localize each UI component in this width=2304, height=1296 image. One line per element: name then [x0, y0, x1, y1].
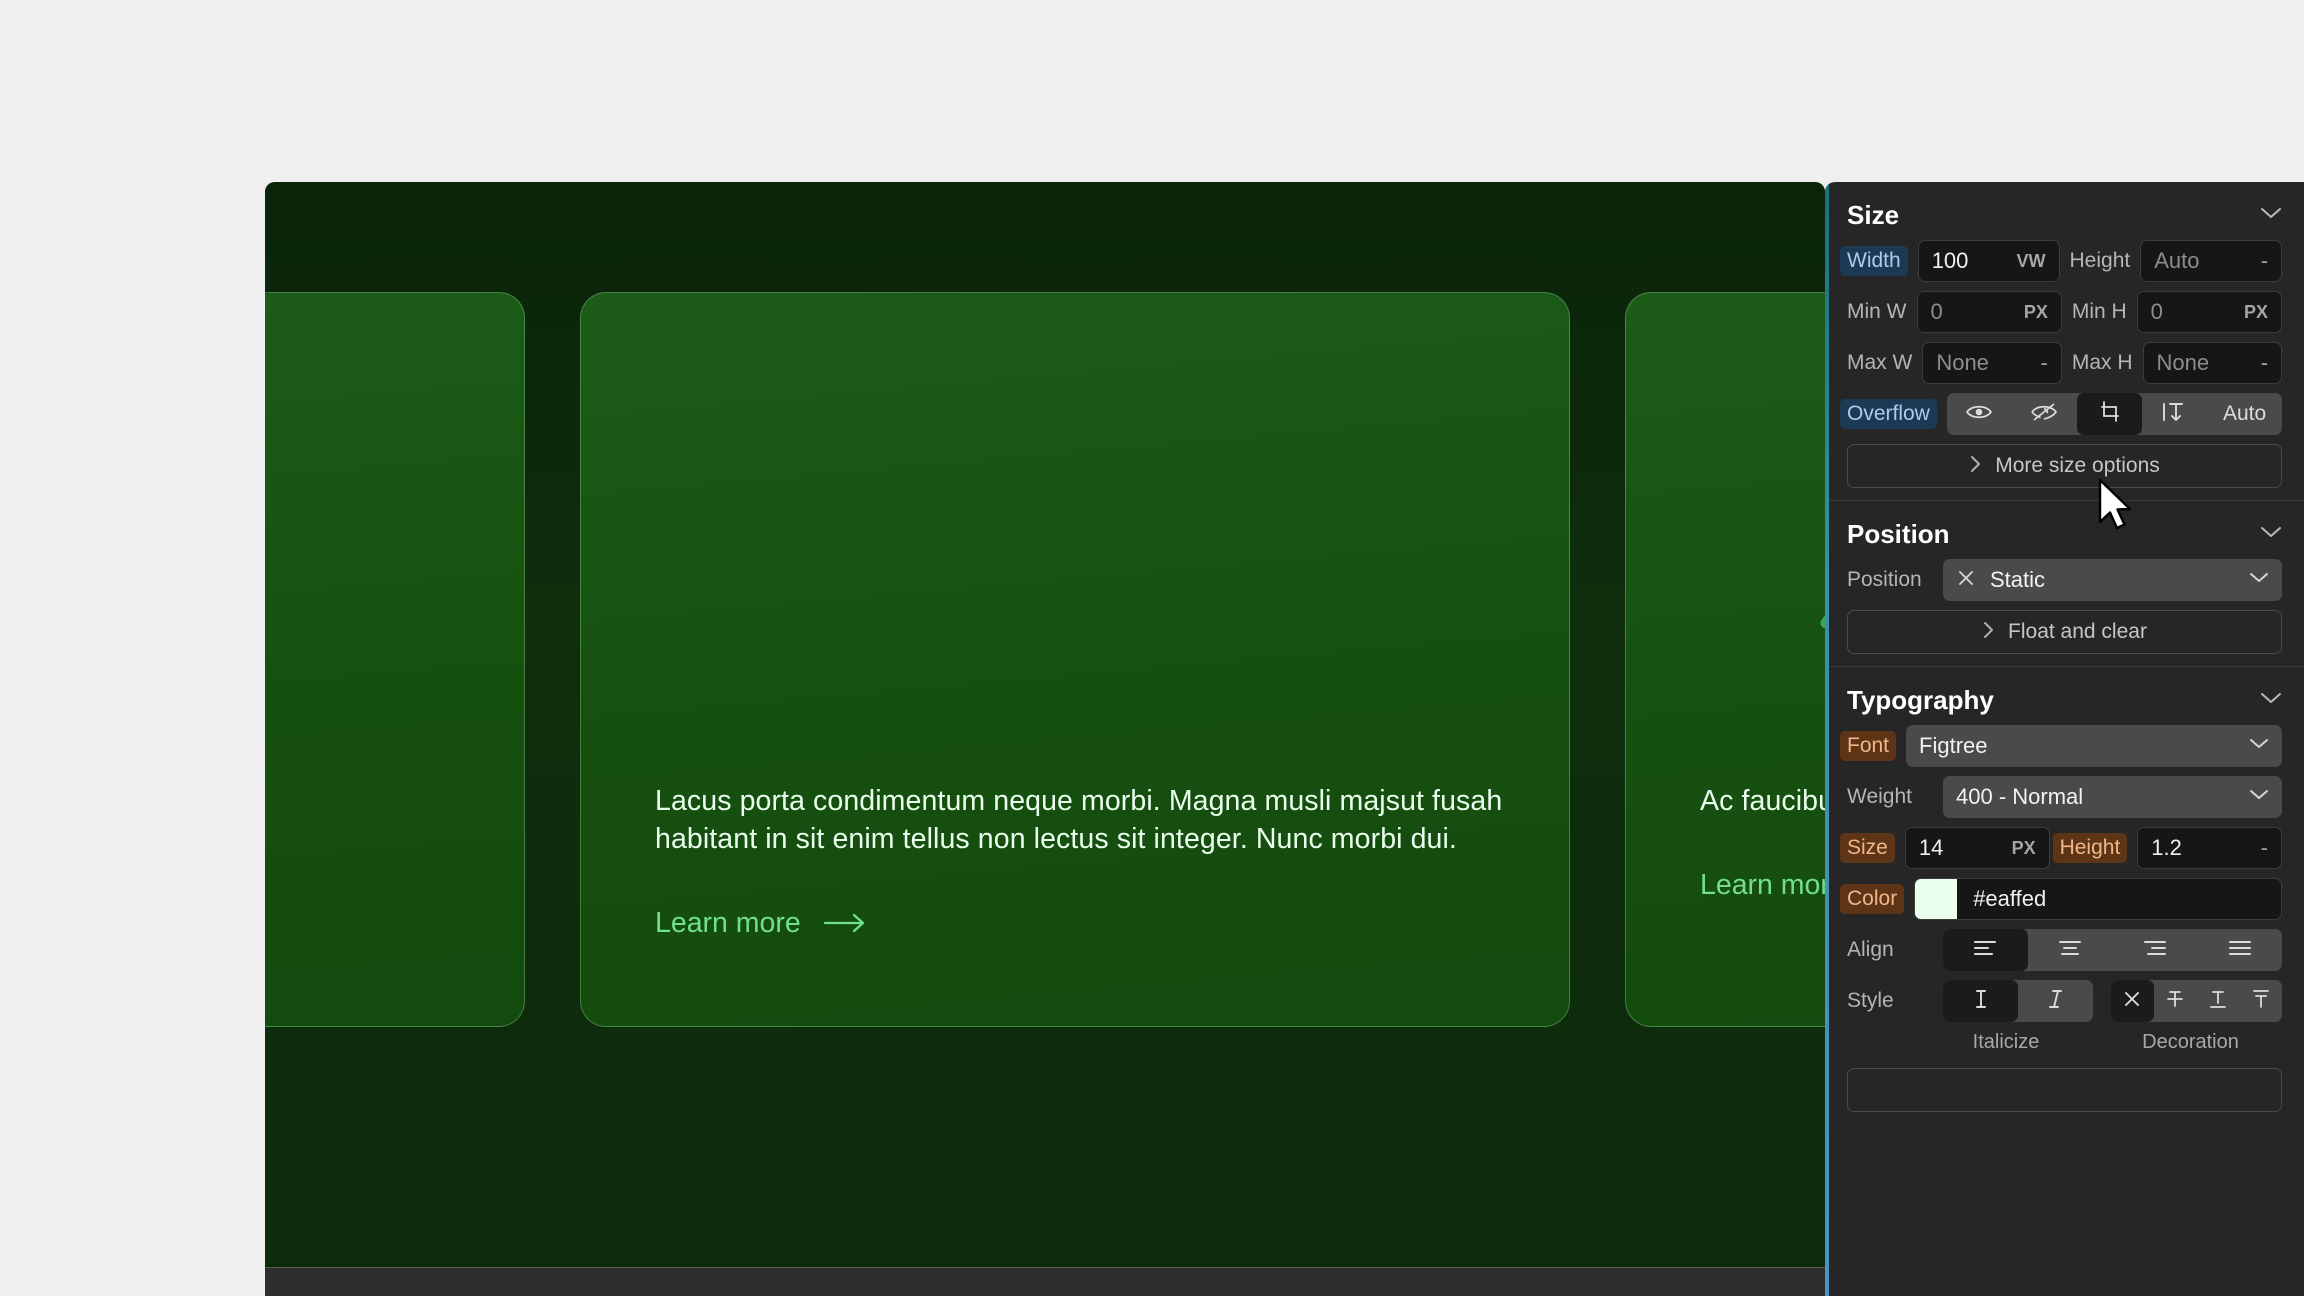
learn-more-label: Learn more: [1700, 869, 1825, 902]
list-item[interactable]: [265, 292, 525, 1027]
style-italic-option[interactable]: [2018, 980, 2093, 1022]
style-properties-panel[interactable]: Size Width 100 VW Height Auto - Min W 0 …: [1825, 182, 2304, 1296]
align-left-option[interactable]: [1943, 929, 2028, 971]
overflow-label: Overflow: [1840, 399, 1937, 429]
font-size-lineheight-row: Size 14 PX Height 1.2 -: [1847, 827, 2282, 869]
decoration-overline-option[interactable]: [2239, 980, 2282, 1022]
color-label: Color: [1840, 884, 1904, 914]
text-style-row: Style: [1847, 980, 2282, 1022]
align-right-icon: [2142, 939, 2168, 962]
style-captions: Italicize Decoration: [1931, 1031, 2282, 1054]
max-height-label: Max H: [2072, 351, 2133, 375]
min-height-unit[interactable]: PX: [2244, 302, 2268, 323]
align-center-option[interactable]: [2028, 929, 2113, 971]
font-value: Figtree: [1919, 733, 2235, 759]
chevron-down-icon[interactable]: [2260, 691, 2282, 710]
text-color-input[interactable]: #eaffed: [1914, 878, 2282, 920]
min-width-value: 0: [1931, 299, 1943, 325]
decoration-underline-option[interactable]: [2197, 980, 2240, 1022]
chevron-right-icon: [1969, 455, 1981, 478]
line-height-input[interactable]: 1.2 -: [2137, 827, 2282, 869]
weight-select[interactable]: 400 - Normal: [1943, 776, 2282, 818]
card-carousel[interactable]: Lacus porta condimentum neque morbi. Mag…: [265, 292, 1825, 1027]
line-height-unit[interactable]: -: [2261, 835, 2268, 861]
eye-icon: [1966, 403, 1992, 426]
style-label: Style: [1847, 989, 1933, 1013]
bar-chart-icon: [581, 293, 1570, 763]
width-input[interactable]: 100 VW: [1918, 240, 2060, 282]
size-width-height-row: Width 100 VW Height Auto -: [1847, 240, 2282, 282]
width-label: Width: [1840, 246, 1908, 276]
chevron-down-icon[interactable]: [2249, 737, 2269, 755]
section-header-size[interactable]: Size: [1847, 182, 2282, 240]
decoration-strikethrough-icon: [2165, 988, 2185, 1015]
design-canvas[interactable]: Lacus porta condimentum neque morbi. Mag…: [265, 182, 1825, 1296]
page-title: Size: [1847, 200, 1899, 231]
decoration-none-option[interactable]: [2111, 980, 2154, 1022]
chevron-down-icon[interactable]: [2260, 525, 2282, 544]
next-control-partial[interactable]: [1847, 1068, 2282, 1112]
decoration-none-icon: [2122, 989, 2142, 1014]
line-height-value: 1.2: [2151, 835, 2182, 861]
position-section-title: Position: [1847, 519, 1950, 550]
weight-value: 400 - Normal: [1956, 784, 2235, 810]
max-height-value: None: [2157, 350, 2210, 376]
list-item[interactable]: Lacus porta condimentum neque morbi. Mag…: [580, 292, 1570, 1027]
max-width-input[interactable]: None -: [1922, 342, 2062, 384]
width-value: 100: [1932, 248, 1969, 274]
decoration-underline-icon: [2208, 988, 2228, 1015]
align-label: Align: [1847, 938, 1933, 962]
size-min-row: Min W 0 PX Min H 0 PX: [1847, 291, 2282, 333]
eye-off-icon: [2031, 403, 2057, 426]
min-width-unit[interactable]: PX: [2024, 302, 2048, 323]
font-select[interactable]: Figtree: [1906, 725, 2282, 767]
arrow-right-icon: [823, 912, 867, 934]
decoration-strikethrough-option[interactable]: [2154, 980, 2197, 1022]
canvas-footer-bar: [265, 1267, 1825, 1296]
min-width-label: Min W: [1847, 300, 1907, 324]
overflow-auto-option[interactable]: Auto: [2207, 393, 2282, 435]
height-unit[interactable]: -: [2261, 248, 2268, 274]
text-align-row: Align: [1847, 929, 2282, 971]
chevron-right-icon: [1982, 621, 1994, 644]
font-size-input[interactable]: 14 PX: [1905, 827, 2050, 869]
italicize-caption: Italicize: [1931, 1031, 2081, 1054]
position-select[interactable]: Static: [1943, 559, 2282, 601]
font-size-label: Size: [1840, 833, 1895, 863]
more-size-options-button[interactable]: More size options: [1847, 444, 2282, 488]
overflow-hidden-option[interactable]: [2012, 393, 2077, 435]
height-value: Auto: [2154, 248, 2199, 274]
decoration-overline-icon: [2251, 988, 2271, 1015]
learn-more-label: Learn more: [655, 907, 801, 940]
height-input[interactable]: Auto -: [2140, 240, 2282, 282]
typography-section-title: Typography: [1847, 685, 1994, 716]
position-row: Position Static: [1847, 559, 2282, 601]
card-description: Lacus porta condimentum neque morbi. Mag…: [655, 783, 1509, 859]
overflow-visible-option[interactable]: [1947, 393, 2012, 435]
align-right-option[interactable]: [2113, 929, 2198, 971]
text-align-segmented-control[interactable]: [1943, 929, 2282, 971]
float-and-clear-button[interactable]: Float and clear: [1847, 610, 2282, 654]
more-size-options-label: More size options: [1995, 454, 2160, 478]
font-size-unit[interactable]: PX: [2012, 838, 2036, 859]
card-artwork: [265, 293, 524, 763]
section-header-typography[interactable]: Typography: [1847, 667, 2282, 725]
chevron-down-icon[interactable]: [2249, 788, 2269, 806]
learn-more-link[interactable]: Learn more: [1700, 869, 1825, 902]
max-width-unit[interactable]: -: [2041, 350, 2048, 376]
line-height-label: Height: [2053, 833, 2128, 863]
upright-i-icon: [1972, 988, 1990, 1015]
clip-icon: [2098, 400, 2122, 429]
decoration-segmented-control[interactable]: [2111, 980, 2282, 1022]
align-left-icon: [1972, 939, 1998, 962]
chevron-down-icon[interactable]: [2260, 206, 2282, 225]
size-max-row: Max W None - Max H None -: [1847, 342, 2282, 384]
max-width-value: None: [1936, 350, 1989, 376]
card-artwork-bar-chart: [581, 293, 1569, 763]
card-description: Ac faucibus lobortis eu consectetur etia…: [1700, 783, 1825, 821]
color-hex-value: #eaffed: [1957, 886, 2046, 912]
list-item[interactable]: Ac faucibus lobortis eu consectetur etia…: [1625, 292, 1825, 1027]
section-header-position[interactable]: Position: [1847, 501, 2282, 559]
italicize-segmented-control[interactable]: [1943, 980, 2093, 1022]
chevron-down-icon[interactable]: [2249, 571, 2269, 589]
height-label: Height: [2070, 249, 2131, 273]
overflow-clip-option[interactable]: [2077, 393, 2142, 435]
font-label: Font: [1840, 731, 1896, 761]
align-justify-icon: [2227, 939, 2253, 962]
close-icon[interactable]: [1956, 568, 1976, 593]
align-center-icon: [2057, 939, 2083, 962]
position-label: Position: [1847, 568, 1933, 592]
min-width-input[interactable]: 0 PX: [1917, 291, 2062, 333]
max-height-unit[interactable]: -: [2261, 350, 2268, 376]
decoration-caption: Decoration: [2099, 1031, 2282, 1054]
crossing-curves-icon: [1626, 293, 1825, 763]
text-color-row: Color #eaffed: [1847, 878, 2282, 920]
card-artwork-curves: [1626, 293, 1825, 763]
font-size-value: 14: [1919, 835, 1943, 861]
learn-more-link[interactable]: Learn more: [655, 907, 1509, 940]
max-height-input[interactable]: None -: [2143, 342, 2283, 384]
weight-label: Weight: [1847, 785, 1933, 809]
min-height-label: Min H: [2072, 300, 2127, 324]
width-unit[interactable]: VW: [2017, 251, 2046, 272]
style-normal-option[interactable]: [1943, 980, 2018, 1022]
align-justify-option[interactable]: [2197, 929, 2282, 971]
panel-resize-handle[interactable]: [1825, 182, 1829, 1296]
min-height-value: 0: [2151, 299, 2163, 325]
italic-i-icon: [2047, 988, 2065, 1015]
scroll-icon: [2162, 401, 2188, 428]
overflow-segmented-control[interactable]: Auto: [1947, 393, 2282, 435]
max-width-label: Max W: [1847, 351, 1912, 375]
min-height-input[interactable]: 0 PX: [2137, 291, 2282, 333]
color-swatch[interactable]: [1915, 879, 1957, 919]
font-row: Font Figtree: [1847, 725, 2282, 767]
overflow-scroll-option[interactable]: [2142, 393, 2207, 435]
weight-row: Weight 400 - Normal: [1847, 776, 2282, 818]
overflow-row: Overflow: [1847, 393, 2282, 435]
float-and-clear-label: Float and clear: [2008, 620, 2147, 644]
position-value: Static: [1990, 567, 2235, 593]
